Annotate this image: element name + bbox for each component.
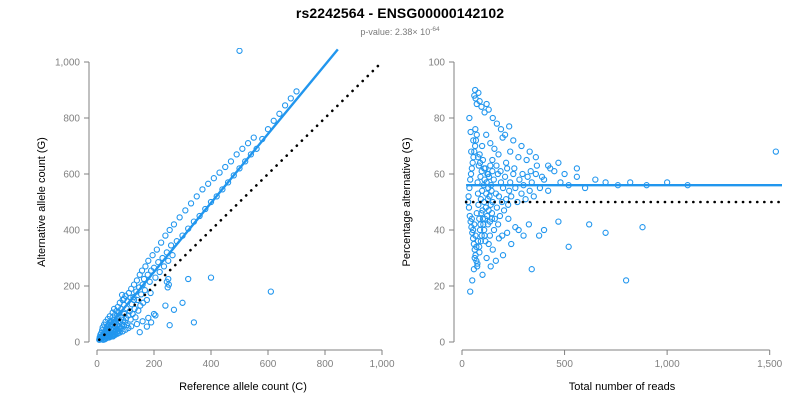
data-point bbox=[486, 107, 491, 112]
x-axis-tick-label: 600 bbox=[260, 359, 277, 370]
y-axis-tick-label: 40 bbox=[434, 226, 446, 237]
data-point bbox=[177, 215, 182, 220]
data-point bbox=[186, 276, 191, 281]
data-point bbox=[537, 233, 542, 238]
data-point bbox=[533, 171, 538, 176]
data-point bbox=[137, 330, 142, 335]
pvalue-exponent: -64 bbox=[430, 26, 439, 33]
data-point bbox=[163, 303, 168, 308]
data-point bbox=[484, 191, 489, 196]
x-axis-tick-label: 1,500 bbox=[757, 359, 782, 370]
data-point bbox=[516, 227, 521, 232]
data-point bbox=[150, 253, 155, 258]
x-axis-tick-label: 200 bbox=[146, 359, 163, 370]
data-point bbox=[245, 141, 250, 146]
data-point bbox=[468, 171, 473, 176]
data-point bbox=[484, 255, 489, 260]
data-point bbox=[468, 129, 473, 134]
data-point bbox=[471, 267, 476, 272]
y-axis-tick-label: 100 bbox=[428, 58, 445, 69]
data-point bbox=[593, 177, 598, 182]
data-point bbox=[161, 264, 166, 269]
y-axis-tick-label: 80 bbox=[434, 114, 446, 125]
data-point bbox=[484, 132, 489, 137]
left-panel: 02004006008001,00002004006008001,000Refe… bbox=[36, 48, 395, 393]
data-point bbox=[491, 177, 496, 182]
data-point bbox=[603, 230, 608, 235]
data-point bbox=[167, 323, 172, 328]
data-point bbox=[504, 160, 509, 165]
figure-container: rs2242564 - ENSG00000142102 p-value: 2.3… bbox=[0, 0, 800, 400]
data-points bbox=[97, 48, 299, 342]
data-point bbox=[470, 278, 475, 283]
data-point bbox=[511, 138, 516, 143]
x-axis-tick-label: 500 bbox=[556, 359, 573, 370]
data-point bbox=[488, 264, 493, 269]
data-point bbox=[183, 208, 188, 213]
data-point bbox=[488, 141, 493, 146]
data-point bbox=[494, 163, 499, 168]
x-axis-tick-label: 400 bbox=[203, 359, 220, 370]
data-point bbox=[240, 146, 245, 151]
data-point bbox=[493, 258, 498, 263]
data-point bbox=[531, 194, 536, 199]
data-point bbox=[223, 164, 228, 169]
x-axis-tick-label: 1,000 bbox=[369, 359, 394, 370]
data-point bbox=[206, 181, 211, 186]
data-point bbox=[134, 278, 139, 283]
data-point bbox=[529, 267, 534, 272]
data-point bbox=[773, 149, 778, 154]
right-panel: 02040608010005001,0001,500Total number o… bbox=[401, 58, 783, 394]
data-point bbox=[159, 240, 164, 245]
data-point bbox=[488, 163, 493, 168]
data-point bbox=[146, 258, 151, 263]
data-point bbox=[546, 188, 551, 193]
data-point bbox=[490, 157, 495, 162]
scatter-plot-panels: 02004006008001,00002004006008001,000Refe… bbox=[0, 0, 800, 400]
data-point bbox=[143, 264, 148, 269]
data-point bbox=[157, 269, 162, 274]
data-point bbox=[467, 115, 472, 120]
data-point bbox=[509, 194, 514, 199]
identity-line bbox=[99, 62, 382, 340]
data-point bbox=[541, 227, 546, 232]
data-point bbox=[144, 297, 149, 302]
data-point bbox=[525, 174, 530, 179]
data-point bbox=[228, 159, 233, 164]
data-point bbox=[492, 146, 497, 151]
data-point bbox=[506, 216, 511, 221]
y-axis-title: Percentage alternative (G) bbox=[401, 137, 413, 266]
data-point bbox=[521, 233, 526, 238]
data-point bbox=[574, 174, 579, 179]
data-point bbox=[501, 208, 506, 213]
data-point bbox=[142, 288, 147, 293]
data-point bbox=[211, 176, 216, 181]
data-point bbox=[486, 241, 491, 246]
data-point bbox=[167, 227, 172, 232]
data-point bbox=[288, 96, 293, 101]
data-point bbox=[180, 300, 185, 305]
data-point bbox=[134, 321, 139, 326]
y-axis-tick-label: 800 bbox=[63, 114, 80, 125]
data-point bbox=[624, 278, 629, 283]
x-axis-title: Reference allele count (C) bbox=[179, 381, 307, 393]
data-point bbox=[491, 227, 496, 232]
data-point bbox=[466, 205, 471, 210]
fit-line bbox=[98, 49, 337, 339]
y-axis-tick-label: 0 bbox=[439, 338, 445, 349]
data-point bbox=[507, 188, 512, 193]
data-point bbox=[496, 152, 501, 157]
x-axis-tick-label: 800 bbox=[317, 359, 334, 370]
y-axis-tick-label: 60 bbox=[434, 170, 446, 181]
data-point bbox=[148, 290, 153, 295]
data-point bbox=[237, 48, 242, 53]
data-point bbox=[271, 118, 276, 123]
data-point bbox=[146, 315, 151, 320]
data-point bbox=[489, 211, 494, 216]
data-point bbox=[566, 244, 571, 249]
data-point bbox=[480, 143, 485, 148]
y-axis-tick-label: 20 bbox=[434, 282, 446, 293]
data-point bbox=[500, 253, 505, 258]
data-point bbox=[468, 289, 473, 294]
data-point bbox=[524, 157, 529, 162]
data-point bbox=[640, 225, 645, 230]
data-point bbox=[234, 152, 239, 157]
data-point bbox=[513, 225, 518, 230]
data-point bbox=[171, 307, 176, 312]
right-panel-data-layer bbox=[466, 87, 782, 294]
data-point bbox=[474, 132, 479, 137]
data-point bbox=[188, 201, 193, 206]
data-point bbox=[140, 319, 145, 324]
pvalue-subtitle: p-value: 2.38× 10-64 bbox=[0, 26, 800, 37]
data-point bbox=[154, 247, 159, 252]
data-point bbox=[528, 169, 533, 174]
data-point bbox=[477, 250, 482, 255]
data-point bbox=[484, 101, 489, 106]
data-point bbox=[512, 166, 517, 171]
data-point bbox=[151, 311, 156, 316]
data-point bbox=[562, 171, 567, 176]
data-point bbox=[487, 233, 492, 238]
data-point bbox=[466, 194, 471, 199]
data-point bbox=[191, 320, 196, 325]
data-point bbox=[505, 166, 510, 171]
data-point bbox=[574, 166, 579, 171]
data-point bbox=[208, 275, 213, 280]
data-point bbox=[494, 205, 499, 210]
x-axis-title: Total number of reads bbox=[569, 381, 676, 393]
data-point bbox=[556, 160, 561, 165]
pvalue-text: p-value: 2.38× 10 bbox=[360, 27, 430, 37]
y-axis-title: Alternative allele count (G) bbox=[36, 137, 48, 267]
data-point bbox=[194, 194, 199, 199]
data-point bbox=[476, 90, 481, 95]
data-point bbox=[490, 247, 495, 252]
data-point bbox=[505, 230, 510, 235]
data-point bbox=[516, 155, 521, 160]
data-point bbox=[217, 170, 222, 175]
data-point bbox=[498, 127, 503, 132]
data-point bbox=[527, 149, 532, 154]
data-point bbox=[469, 166, 474, 171]
data-point bbox=[470, 160, 475, 165]
data-points bbox=[466, 87, 779, 294]
data-point bbox=[171, 222, 176, 227]
x-axis-tick-label: 1,000 bbox=[655, 359, 680, 370]
y-axis-tick-label: 0 bbox=[74, 338, 80, 349]
data-point bbox=[163, 233, 168, 238]
data-point bbox=[534, 163, 539, 168]
data-point bbox=[556, 219, 561, 224]
data-point bbox=[480, 272, 485, 277]
y-axis-tick-label: 200 bbox=[63, 282, 80, 293]
data-point bbox=[494, 121, 499, 126]
data-point bbox=[490, 115, 495, 120]
y-axis-tick-label: 400 bbox=[63, 226, 80, 237]
data-point bbox=[519, 191, 524, 196]
data-point bbox=[200, 187, 205, 192]
data-point bbox=[497, 213, 502, 218]
data-point bbox=[587, 222, 592, 227]
data-point bbox=[268, 289, 273, 294]
data-point bbox=[473, 143, 478, 148]
data-point bbox=[500, 233, 505, 238]
data-point bbox=[251, 135, 256, 140]
data-point bbox=[144, 324, 149, 329]
data-point bbox=[519, 143, 524, 148]
data-point bbox=[166, 258, 171, 263]
data-point bbox=[527, 188, 532, 193]
data-point bbox=[508, 149, 513, 154]
data-point bbox=[479, 104, 484, 109]
data-point bbox=[511, 171, 516, 176]
data-point bbox=[283, 103, 288, 108]
data-point bbox=[133, 315, 138, 320]
data-point bbox=[509, 241, 514, 246]
data-point bbox=[502, 174, 507, 179]
data-point bbox=[473, 87, 478, 92]
x-axis-tick-label: 0 bbox=[94, 359, 100, 370]
data-point bbox=[496, 222, 501, 227]
data-point bbox=[507, 124, 512, 129]
data-point bbox=[496, 236, 501, 241]
data-point bbox=[294, 89, 299, 94]
y-axis-tick-label: 600 bbox=[63, 170, 80, 181]
data-point bbox=[520, 171, 525, 176]
data-point bbox=[526, 222, 531, 227]
data-point bbox=[533, 155, 538, 160]
data-point bbox=[517, 177, 522, 182]
y-axis-tick-label: 1,000 bbox=[55, 58, 80, 69]
data-point bbox=[468, 177, 473, 182]
x-axis-tick-label: 0 bbox=[459, 359, 465, 370]
data-point bbox=[153, 275, 158, 280]
page-title: rs2242564 - ENSG00000142102 bbox=[0, 5, 800, 21]
left-panel-data-layer bbox=[97, 48, 382, 342]
data-point bbox=[277, 111, 282, 116]
data-point bbox=[153, 313, 158, 318]
